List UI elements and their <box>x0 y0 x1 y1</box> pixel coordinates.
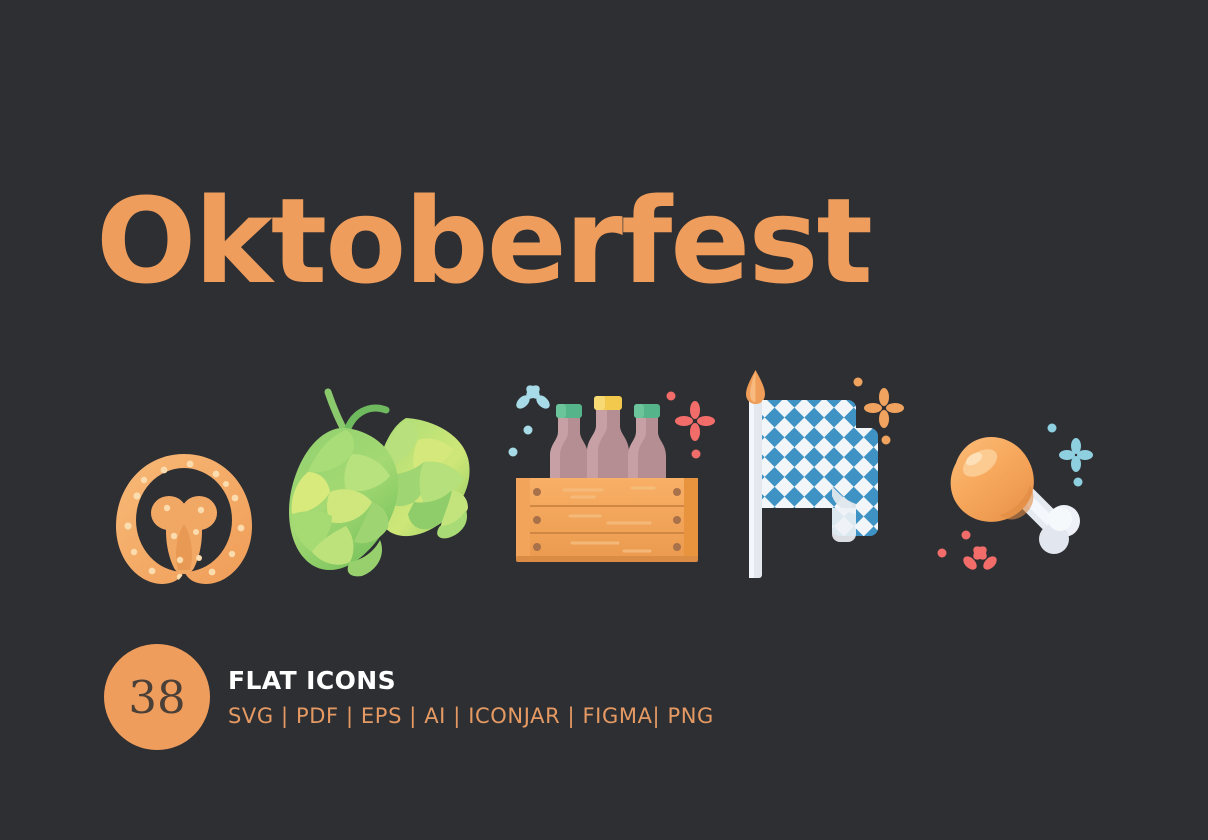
poster-canvas: Oktoberfest <box>0 0 1208 840</box>
sparkle-red-right-svg <box>663 382 733 472</box>
sparkle-orange-flag-svg <box>846 370 916 455</box>
footer-subtitle: FLAT ICONS <box>228 665 714 697</box>
icon-count-value: 38 <box>128 675 185 720</box>
pretzel-icon <box>104 440 264 605</box>
icon-showcase-row <box>0 360 1208 600</box>
page-title: Oktoberfest <box>96 176 871 306</box>
hops-icon-svg <box>282 378 502 588</box>
icon-count-badge: 38 <box>104 644 210 750</box>
sparkle-blue-ham <box>1040 420 1110 505</box>
footer: 38 FLAT ICONS SVG | PDF | EPS | AI | ICO… <box>104 644 714 750</box>
sparkle-blue-left <box>503 380 563 475</box>
sparkle-blue-left-svg <box>503 380 563 470</box>
pretzel-icon-svg <box>104 440 264 600</box>
sparkle-red-ham <box>930 525 1010 590</box>
sparkle-blue-ham-svg <box>1040 420 1110 500</box>
sparkle-red-ham-svg <box>930 525 1010 585</box>
footer-formats: SVG | PDF | EPS | AI | ICONJAR | FIGMA| … <box>228 704 714 728</box>
sparkle-orange-flag <box>846 370 916 460</box>
footer-text-block: FLAT ICONS SVG | PDF | EPS | AI | ICONJA… <box>228 665 714 730</box>
hops-icon <box>282 378 502 593</box>
sparkle-red-right <box>663 382 733 477</box>
